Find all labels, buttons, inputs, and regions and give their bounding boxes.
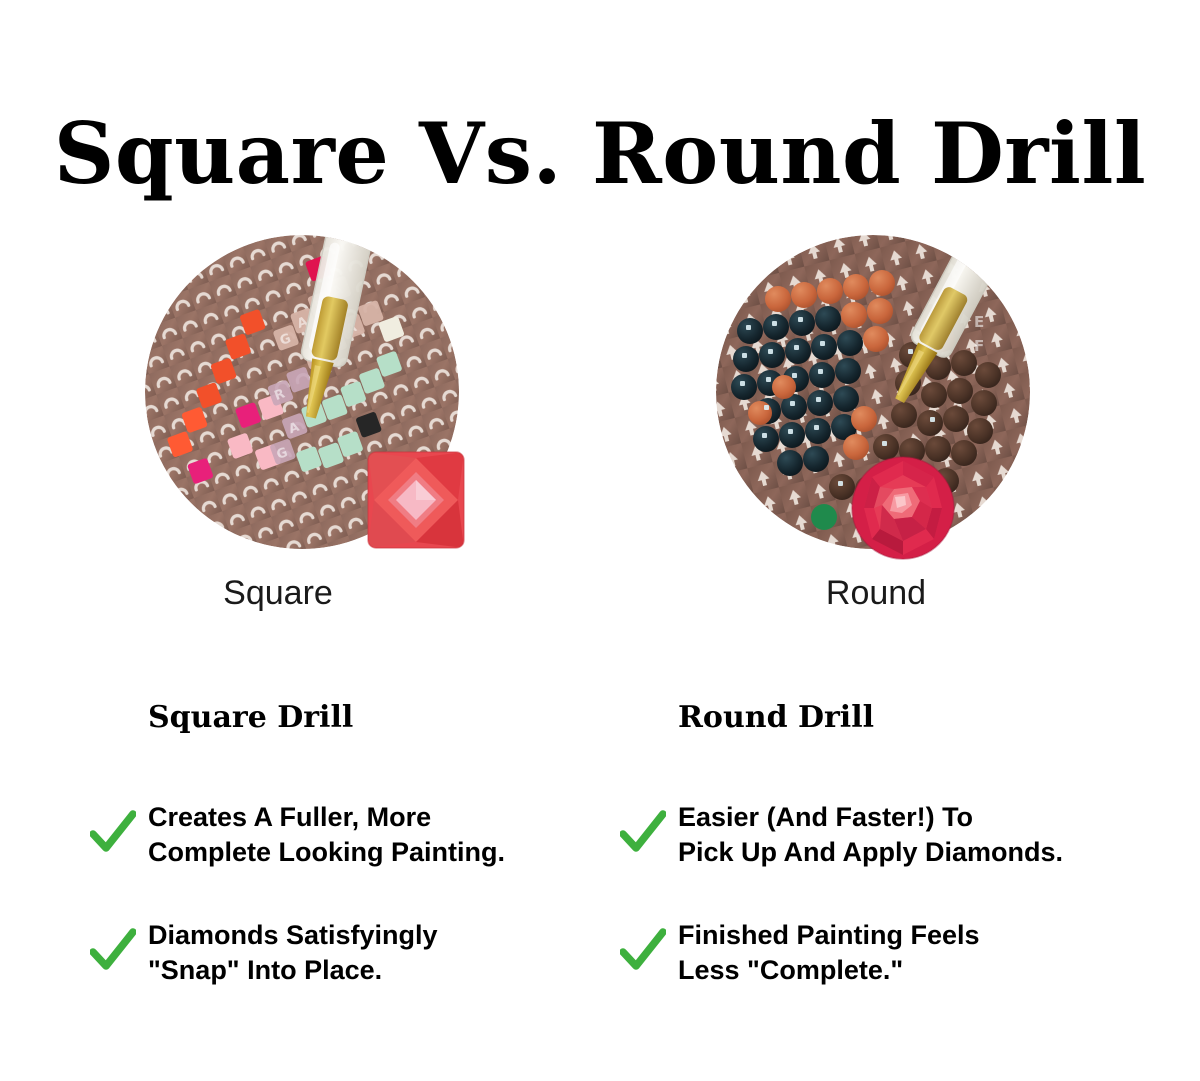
check-icon (620, 810, 666, 856)
bullet-text: Diamonds Satisfyingly "Snap" Into Place. (148, 920, 438, 985)
page-title: Square Vs. Round Drill (0, 104, 1200, 204)
list-item: Diamonds Satisfyingly "Snap" Into Place. (90, 918, 650, 990)
caption-round: Round (576, 571, 1176, 615)
check-icon (90, 928, 136, 974)
list-item: Creates A Fuller, More Complete Looking … (90, 800, 650, 872)
photo-captions: Square Round (0, 571, 1200, 621)
svg-text:E: E (974, 313, 984, 331)
round-drill-heading: Round Drill (620, 700, 1180, 736)
square-gem-icon (366, 450, 466, 550)
check-icon (620, 928, 666, 974)
round-photo-column: E F (600, 228, 1200, 558)
list-item: Finished Painting Feels Less "Complete." (620, 918, 1180, 990)
list-item: Easier (And Faster!) To Pick Up And Appl… (620, 800, 1180, 872)
bullet-text: Creates A Fuller, More Complete Looking … (148, 802, 505, 867)
photo-comparison-row: G A 5 A R 5 A G A R (0, 228, 1200, 558)
square-drill-column: Square Drill Creates A Fuller, More Comp… (90, 700, 650, 1036)
bullet-text: Easier (And Faster!) To Pick Up And Appl… (678, 802, 1063, 867)
svg-text:F: F (974, 337, 984, 355)
square-drill-bullets: Creates A Fuller, More Complete Looking … (90, 800, 650, 990)
square-photo-column: G A 5 A R 5 A G A R (0, 228, 600, 558)
comparison-section: Square Drill Creates A Fuller, More Comp… (0, 700, 1200, 1030)
check-icon (90, 810, 136, 856)
round-drill-bullets: Easier (And Faster!) To Pick Up And Appl… (620, 800, 1180, 990)
bullet-text: Finished Painting Feels Less "Complete." (678, 920, 980, 985)
caption-square: Square (0, 571, 578, 615)
round-gem-icon (850, 455, 956, 561)
round-drill-column: Round Drill Easier (And Faster!) To Pick… (620, 700, 1180, 1036)
square-drill-heading: Square Drill (90, 700, 650, 736)
